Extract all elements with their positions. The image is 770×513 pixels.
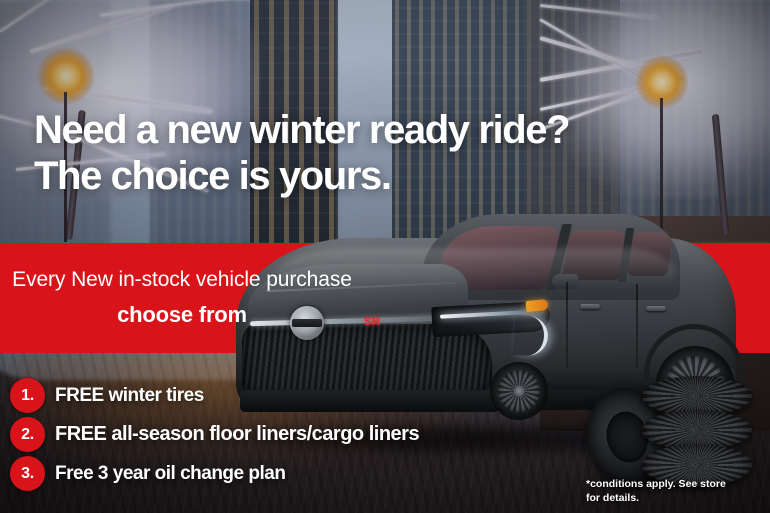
- offer-band-line-1: Every New in-stock vehicle purchase: [12, 268, 352, 292]
- door-seam-rear: [636, 284, 638, 370]
- door-seam-front: [566, 282, 568, 374]
- page-title: Need a new winter ready ride? The choice…: [34, 108, 569, 199]
- side-mirror: [552, 274, 578, 289]
- offer-number-badge: 2.: [10, 417, 45, 452]
- offer-label: FREE winter tires: [55, 385, 204, 407]
- list-item: 1. FREE winter tires: [10, 376, 419, 415]
- headline-line-2: The choice is yours.: [34, 154, 569, 200]
- sr-badge: SR: [364, 316, 380, 328]
- list-item: 2. FREE all-season floor liners/cargo li…: [10, 415, 419, 454]
- offer-band-line-2: choose from: [117, 302, 247, 328]
- promo-banner: SR Need a n: [0, 0, 770, 513]
- offer-number-badge: 3.: [10, 456, 45, 491]
- offer-number-badge: 1.: [10, 378, 45, 413]
- disclaimer-line-2: for details.: [586, 491, 758, 505]
- disclaimer: *conditions apply. See store for details…: [586, 477, 758, 505]
- headline-line-1: Need a new winter ready ride?: [34, 108, 569, 154]
- offer-list: 1. FREE winter tires 2. FREE all-season …: [10, 376, 419, 493]
- offer-label: FREE all-season floor liners/cargo liner…: [55, 423, 419, 446]
- front-wheel: [490, 362, 548, 420]
- door-handle-rear: [646, 306, 666, 311]
- disclaimer-line-1: *conditions apply. See store: [586, 477, 758, 491]
- offer-band-text: Every New in-stock vehicle purchase choo…: [0, 243, 364, 353]
- list-item: 3. Free 3 year oil change plan: [10, 454, 419, 493]
- offer-label: Free 3 year oil change plan: [55, 463, 285, 485]
- door-handle-front: [580, 304, 600, 309]
- front-rim: [498, 370, 540, 412]
